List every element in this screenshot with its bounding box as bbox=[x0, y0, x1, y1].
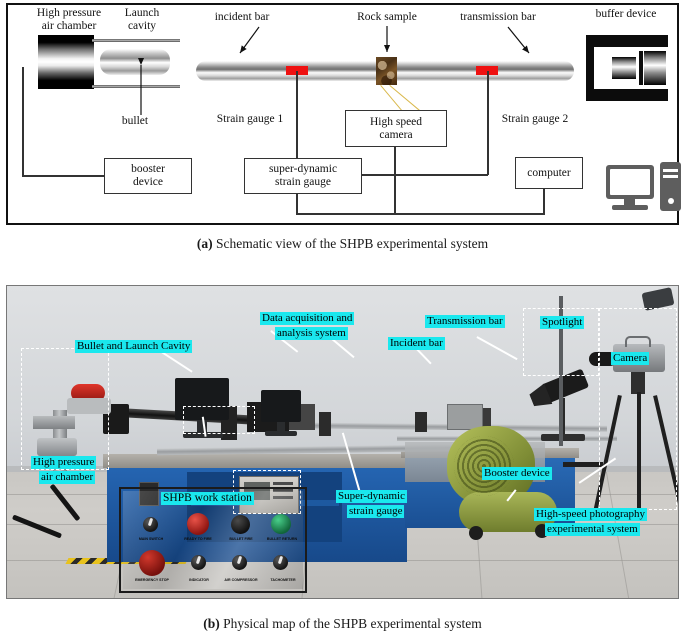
tag-incident-bar: Incident bar bbox=[388, 337, 445, 350]
roi-high-pressure-air-chamber bbox=[21, 348, 109, 470]
schematic-canvas: booster device High speed camera super-d… bbox=[8, 5, 677, 223]
inset-title-tag: SHPB work station bbox=[161, 492, 254, 505]
figure-page: booster device High speed camera super-d… bbox=[0, 0, 685, 643]
tag-booster-device: Booster device bbox=[482, 467, 552, 480]
schematic-panel: booster device High speed camera super-d… bbox=[6, 3, 679, 225]
arrow-transmission-bar bbox=[508, 27, 529, 53]
control-ready-to-fire[interactable] bbox=[187, 513, 209, 535]
control-air-compressor[interactable] bbox=[232, 555, 247, 570]
control-label-ready-to-fire: READY TO FIRE bbox=[173, 537, 223, 541]
caption-b-prefix: (b) bbox=[203, 616, 220, 631]
arrow-incident-bar bbox=[240, 27, 259, 53]
monitor-2-base bbox=[265, 431, 297, 436]
caption-b-text: Physical map of the SHPB experimental sy… bbox=[223, 616, 482, 631]
control-label-bullet-fire: BULLET FIRE bbox=[219, 537, 263, 541]
control-bullet-fire[interactable] bbox=[231, 515, 250, 534]
roi-work-station-panel bbox=[183, 406, 255, 434]
tag-super-dynamic-strain-gauge-line2: strain gauge bbox=[347, 505, 404, 518]
bar-support-2 bbox=[415, 412, 427, 432]
roi-high-speed-photography-system bbox=[599, 308, 677, 510]
tag-camera: Camera bbox=[611, 352, 649, 365]
control-label-indicator: INDICATOR bbox=[177, 578, 221, 582]
control-label-emergency-stop: EMERGENCY STOP bbox=[125, 578, 179, 582]
chair-base bbox=[563, 462, 603, 467]
caption-b: (b) Physical map of the SHPB experimenta… bbox=[0, 616, 685, 632]
acquisition-monitor-2 bbox=[261, 390, 301, 422]
spotlight-base bbox=[541, 434, 585, 441]
tag-high-pressure-air-chamber-line1: High pressure bbox=[31, 456, 96, 469]
control-label-tachometer: TACHOMETER bbox=[259, 578, 307, 582]
control-main-switch[interactable] bbox=[143, 517, 158, 532]
tag-high-speed-photography-line2: experimental system bbox=[545, 523, 640, 536]
leader-arrow-group bbox=[8, 5, 681, 227]
booster-fan-grille bbox=[454, 436, 514, 496]
photo-panel: Bullet and Launch Cavity Data acquisitio… bbox=[6, 285, 679, 599]
tag-transmission-bar: Transmission bar bbox=[425, 315, 505, 328]
tag-data-acquisition-line2: analysis system bbox=[275, 327, 348, 340]
control-tachometer[interactable] bbox=[273, 555, 288, 570]
control-indicator[interactable] bbox=[191, 555, 206, 570]
control-emergency-stop[interactable] bbox=[139, 550, 165, 576]
control-bullet-return[interactable] bbox=[271, 514, 291, 534]
control-label-bullet-return: BULLET RETURN bbox=[259, 537, 305, 541]
tag-spotlight: Spotlight bbox=[540, 316, 584, 329]
tag-bullet-and-launch-cavity: Bullet and Launch Cavity bbox=[75, 340, 192, 353]
tag-data-acquisition-line1: Data acquisition and bbox=[260, 312, 354, 325]
caption-a-prefix: (a) bbox=[197, 236, 213, 251]
tag-high-pressure-air-chamber-line2: air chamber bbox=[39, 471, 95, 484]
tag-high-speed-photography-line1: High-speed photography bbox=[534, 508, 647, 521]
bar-support-1 bbox=[319, 412, 331, 436]
control-label-main-switch: MAIN SWITCH bbox=[127, 537, 175, 541]
caption-a-text: Schematic view of the SHPB experimental … bbox=[216, 236, 488, 251]
tag-super-dynamic-strain-gauge-line1: Super-dynamic bbox=[336, 490, 407, 503]
booster-wheel-left bbox=[469, 526, 483, 540]
main-bench-top bbox=[103, 454, 413, 468]
caption-a: (a) Schematic view of the SHPB experimen… bbox=[0, 236, 685, 252]
